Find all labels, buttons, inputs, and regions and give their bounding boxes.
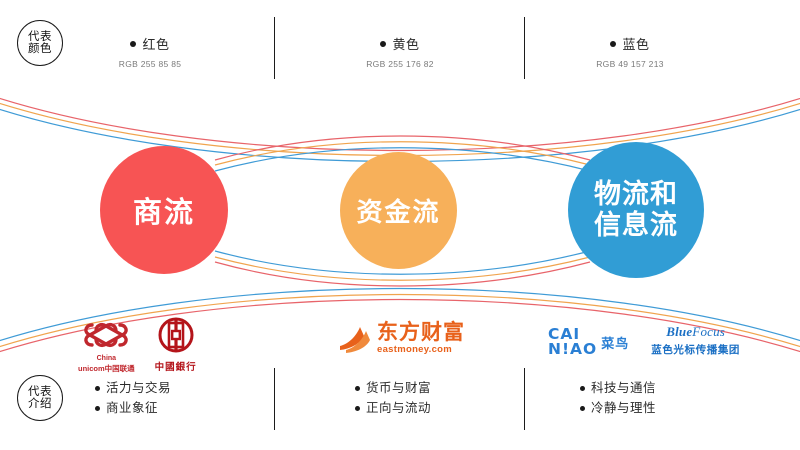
bullet-text: 活力与交易 xyxy=(106,378,171,398)
bullet-list-capital: 货币与财富 正向与流动 xyxy=(355,378,431,418)
bullet-dot-icon xyxy=(580,406,585,411)
list-item: 货币与财富 xyxy=(355,378,431,398)
bullet-dot-icon xyxy=(380,41,386,47)
divider-bottom-2 xyxy=(524,368,525,430)
cainiao-mark: CAI N!AO xyxy=(548,327,597,357)
flow-circle-label: 物流和 信息流 xyxy=(594,179,678,241)
bluefocus-en-bold: Blue xyxy=(666,324,692,339)
bank-of-china-wordmark: 中國銀行 xyxy=(155,359,197,373)
badge-representative-intro: 代表 介绍 xyxy=(17,375,63,421)
list-item: 商业象征 xyxy=(95,398,171,418)
infographic-canvas: 代表 颜色 代表 介绍 红色 RGB 255 85 85 黄色 RGB 255 … xyxy=(0,0,800,450)
flow-circle-label: 商流 xyxy=(133,189,195,231)
legend-column-yellow: 黄色 RGB 255 176 82 xyxy=(310,34,490,69)
eastmoney-cn: 东方财富 xyxy=(377,322,465,343)
bullet-text: 货币与财富 xyxy=(366,378,431,398)
bluefocus-cn: 蓝色光标传播集团 xyxy=(651,342,740,357)
china-unicom-wordmark: China unicom中国联通 xyxy=(78,353,135,373)
bullet-dot-icon xyxy=(580,386,585,391)
badge-intro-line2: 介绍 xyxy=(28,398,52,411)
divider-bottom-1 xyxy=(274,368,275,430)
cainiao-cn: 菜鸟 xyxy=(601,333,629,352)
flow-circle-commerce: 商流 xyxy=(100,146,228,274)
logo-row-logistics: CAI N!AO 菜鸟 BlueFocus 蓝色光标传播集团 xyxy=(548,324,740,357)
eastmoney-icon xyxy=(338,324,372,354)
cainiao-mark-line2: N!AO xyxy=(548,342,597,357)
legend-color-name: 蓝色 xyxy=(622,34,649,53)
legend-name-row: 红色 xyxy=(60,34,240,53)
logo-row-capital: 东方财富 eastmoney.com xyxy=(338,322,465,355)
divider-top-1 xyxy=(274,17,275,79)
badge-color-line2: 颜色 xyxy=(28,43,52,56)
bullet-dot-icon xyxy=(130,41,136,47)
badge-color-line1: 代表 xyxy=(28,31,52,44)
unicom-cn: 中国联通 xyxy=(105,364,135,373)
bullet-dot-icon xyxy=(95,406,100,411)
legend-color-name: 红色 xyxy=(142,34,169,53)
bullet-text: 商业象征 xyxy=(106,398,158,418)
flow-circle-label: 资金流 xyxy=(356,192,440,229)
list-item: 正向与流动 xyxy=(355,398,431,418)
bullet-dot-icon xyxy=(355,406,360,411)
legend-column-blue: 蓝色 RGB 49 157 213 xyxy=(540,34,720,69)
legend-column-red: 红色 RGB 255 85 85 xyxy=(60,34,240,69)
bullet-list-commerce: 活力与交易 商业象征 xyxy=(95,378,171,418)
list-item: 科技与通信 xyxy=(580,378,656,398)
legend-name-row: 蓝色 xyxy=(540,34,720,53)
bluefocus-en-light: Focus xyxy=(692,324,725,339)
legend-rgb-value: RGB 49 157 213 xyxy=(540,59,720,69)
badge-representative-color: 代表 颜色 xyxy=(17,20,63,66)
divider-top-2 xyxy=(524,17,525,79)
legend-name-row: 黄色 xyxy=(310,34,490,53)
legend-rgb-value: RGB 255 176 82 xyxy=(310,59,490,69)
logo-row-commerce: China unicom中国联通 中國銀行 xyxy=(78,316,197,373)
unicom-en-line1: China xyxy=(97,355,116,363)
list-item: 活力与交易 xyxy=(95,378,171,398)
china-unicom-icon xyxy=(78,317,134,353)
bluefocus-en: BlueFocus xyxy=(666,324,725,340)
badge-intro-line1: 代表 xyxy=(28,386,52,399)
bullet-list-logistics: 科技与通信 冷静与理性 xyxy=(580,378,656,418)
flow-circle-logistics-info: 物流和 信息流 xyxy=(568,142,704,278)
flow-circle-capital: 资金流 xyxy=(340,152,457,269)
eastmoney-wordmark: 东方财富 eastmoney.com xyxy=(377,322,465,355)
logo-bluefocus: BlueFocus 蓝色光标传播集团 xyxy=(651,324,740,357)
logo-bank-of-china: 中國銀行 xyxy=(155,316,197,373)
bullet-text: 正向与流动 xyxy=(366,398,431,418)
eastmoney-en: eastmoney.com xyxy=(377,344,465,355)
unicom-en-line2: unicom xyxy=(78,364,105,373)
bank-of-china-icon xyxy=(156,316,196,356)
bullet-text: 科技与通信 xyxy=(591,378,656,398)
legend-color-name: 黄色 xyxy=(392,34,419,53)
legend-rgb-value: RGB 255 85 85 xyxy=(60,59,240,69)
logo-eastmoney: 东方财富 eastmoney.com xyxy=(338,322,465,355)
bullet-dot-icon xyxy=(355,386,360,391)
bullet-text: 冷静与理性 xyxy=(591,398,656,418)
logo-cainiao: CAI N!AO 菜鸟 xyxy=(548,327,629,357)
list-item: 冷静与理性 xyxy=(580,398,656,418)
logo-china-unicom: China unicom中国联通 xyxy=(78,317,135,373)
bullet-dot-icon xyxy=(95,386,100,391)
unicom-wordmark-line2: unicom中国联通 xyxy=(78,365,135,373)
bullet-dot-icon xyxy=(610,41,616,47)
